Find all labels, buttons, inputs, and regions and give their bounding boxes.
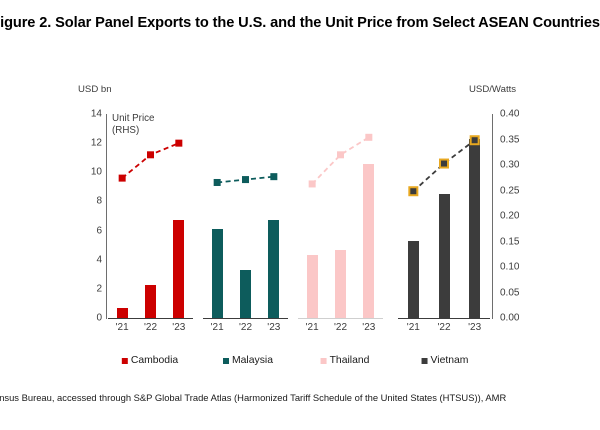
y-axis-tick-left: 12 <box>76 138 102 149</box>
legend-label: Thailand <box>330 355 370 366</box>
bar-thailand-22 <box>335 250 346 318</box>
y-axis-tick-right: 0.00 <box>500 313 534 324</box>
source-note-continued: . <box>0 404 600 415</box>
y-axis-tick-right: 0.30 <box>500 160 534 171</box>
y-axis-tick-right: 0.35 <box>500 134 534 145</box>
legend-swatch-cambodia-icon <box>122 358 128 364</box>
y-axis-tick-left: 6 <box>76 225 102 236</box>
x-axis-tick: '22 <box>328 322 354 333</box>
unit-price-annotation: Unit Price (RHS) <box>112 113 154 136</box>
y-axis-tick-right: 0.10 <box>500 262 534 273</box>
x-axis-tick: '23 <box>261 322 287 333</box>
bar-cambodia-22 <box>145 285 156 319</box>
bar-vietnam-23 <box>469 139 480 318</box>
panel-baseline <box>398 318 490 319</box>
source-note: . Census Bureau, accessed through S&P Gl… <box>0 392 600 404</box>
panel-baseline <box>203 318 288 319</box>
x-axis-tick: '22 <box>138 322 164 333</box>
x-axis-tick: '21 <box>299 322 325 333</box>
bar-cambodia-23 <box>173 220 184 318</box>
bar-malaysia-23 <box>268 220 279 318</box>
y-axis-tick-right: 0.15 <box>500 236 534 247</box>
panel-baseline <box>298 318 383 319</box>
y-axis-tick-left: 14 <box>76 109 102 120</box>
bar-vietnam-21 <box>408 241 419 318</box>
y-axis-tick-left: 4 <box>76 254 102 265</box>
bar-thailand-23 <box>363 164 374 318</box>
x-axis-tick: '21 <box>400 322 426 333</box>
x-axis-tick: '22 <box>233 322 259 333</box>
figure-container: igure 2. Solar Panel Exports to the U.S.… <box>0 0 600 430</box>
x-axis-tick: '23 <box>356 322 382 333</box>
bar-cambodia-21 <box>117 308 128 318</box>
bar-malaysia-21 <box>212 229 223 318</box>
legend: CambodiaMalaysiaThailandVietnam <box>0 355 600 371</box>
bar-malaysia-22 <box>240 270 251 318</box>
panel-baseline <box>108 318 193 319</box>
y-axis-tick-right: 0.25 <box>500 185 534 196</box>
y-axis-tick-right: 0.20 <box>500 211 534 222</box>
legend-item-malaysia[interactable]: Malaysia <box>223 355 273 366</box>
unit-price-annotation-line1: Unit Price <box>112 113 154 125</box>
bar-vietnam-22 <box>439 194 450 318</box>
y-axis-tick-right: 0.05 <box>500 287 534 298</box>
left-axis-line <box>106 114 107 319</box>
legend-swatch-thailand-icon <box>321 358 327 364</box>
y-axis-tick-left: 0 <box>76 313 102 324</box>
y-axis-tick-left: 8 <box>76 196 102 207</box>
right-axis-line <box>492 114 493 319</box>
y-axis-tick-left: 2 <box>76 283 102 294</box>
unit-price-annotation-line2: (RHS) <box>112 125 154 137</box>
legend-swatch-malaysia-icon <box>223 358 229 364</box>
legend-swatch-vietnam-icon <box>422 358 428 364</box>
legend-item-thailand[interactable]: Thailand <box>321 355 370 366</box>
y-axis-tick-right: 0.40 <box>500 109 534 120</box>
x-axis-tick: '21 <box>109 322 135 333</box>
legend-item-cambodia[interactable]: Cambodia <box>122 355 178 366</box>
y-axis-tick-left: 10 <box>76 167 102 178</box>
legend-label: Cambodia <box>131 355 178 366</box>
bar-thailand-21 <box>307 255 318 318</box>
legend-label: Vietnam <box>431 355 469 366</box>
legend-item-vietnam[interactable]: Vietnam <box>422 355 469 366</box>
x-axis-tick: '23 <box>462 322 488 333</box>
x-axis-tick: '22 <box>431 322 457 333</box>
x-axis-tick: '23 <box>166 322 192 333</box>
legend-label: Malaysia <box>232 355 273 366</box>
x-axis-tick: '21 <box>204 322 230 333</box>
